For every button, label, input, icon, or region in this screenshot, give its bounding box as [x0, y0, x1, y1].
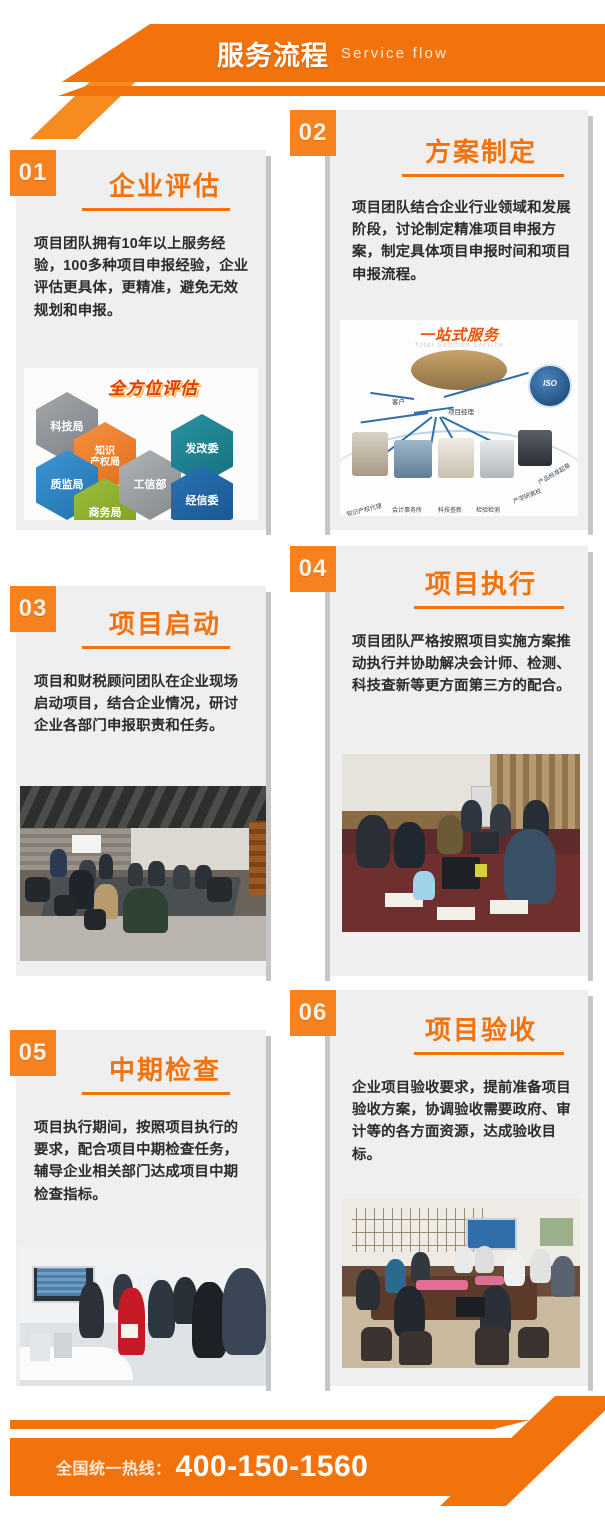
step-body-06: 企业项目验收要求，提前准备项目验收方案，协调验收需要政府、审计等的各方面资源，达…: [352, 1077, 574, 1166]
step-number-badge-04: 04: [290, 546, 336, 592]
step-title-02: 方案制定: [386, 138, 576, 167]
hotline-number[interactable]: 400-150-1560: [176, 1450, 369, 1484]
step-body-05: 项目执行期间，按照项目执行的要求，配合项目中期检查任务，辅导企业相关部门达成项目…: [34, 1117, 250, 1206]
work-session-photo: [342, 754, 580, 932]
hex-node-label: 发改委: [186, 443, 219, 455]
step-card-03: 项目启动 项目和财税顾问团队在企业现场启动项目，结合企业情况，研讨企业各部门申报…: [16, 586, 266, 976]
oss-diagram-subtitle: Total Solution Service: [340, 342, 578, 349]
step-title-05: 中期检查: [74, 1056, 256, 1085]
hex-node-label: 商务局: [89, 507, 122, 519]
hex-node-label: 知识 产权局: [90, 446, 120, 468]
page-title: 服务流程: [217, 34, 329, 73]
oss-node-testing: [480, 440, 514, 478]
step-card-06: 项目验收 企业项目验收要求，提前准备项目验收方案，协调验收需要政府、审计等的各方…: [330, 990, 588, 1386]
oss-seal-label: ISO: [530, 379, 570, 388]
showroom-visit-photo: [20, 1246, 266, 1386]
oss-bottom-label: 会计事务所: [392, 505, 422, 514]
step-body-01: 项目团队拥有10年以上服务经验，100多种项目申报经验，企业评估更具体，更精准，…: [34, 233, 250, 322]
step-number-badge-06: 06: [290, 990, 336, 1036]
hotline-group: 全国统一热线： 400-150-1560: [56, 1438, 368, 1496]
header-title-group: 服务流程 Service flow: [0, 24, 605, 82]
step-title-03: 项目启动: [74, 610, 256, 639]
step-title-06: 项目验收: [386, 1016, 576, 1045]
oss-node-research: [438, 438, 474, 478]
step-body-04: 项目团队严格按照项目实施方案推动执行并协助解决会计师、检测、科技查新等更方面第三…: [352, 631, 574, 698]
hex-node-label: 工信部: [134, 479, 167, 491]
oss-node-accounting: [394, 440, 432, 478]
step-title-rule-04: [414, 606, 564, 609]
page-subtitle: Service flow: [341, 45, 448, 62]
boardroom-meeting-photo: [342, 1198, 580, 1368]
hex-node-label: 质监局: [51, 479, 84, 491]
step-number-badge-01: 01: [10, 150, 56, 196]
oss-node-university: [518, 430, 552, 466]
step-body-02: 项目团队结合企业行业领域和发展阶段，讨论制定精准项目申报方案，制定具体项目申报时…: [352, 197, 574, 286]
oss-iso-seal-icon: ISO: [528, 364, 572, 408]
step-title-rule-06: [414, 1052, 564, 1055]
step-title-rule-02: [402, 174, 564, 177]
oss-arrow: [361, 412, 429, 423]
step-number-badge-03: 03: [10, 586, 56, 632]
hex-node-label: 科技局: [51, 421, 84, 433]
hex-node-label: 经信委: [186, 495, 219, 507]
hotline-label: 全国统一热线：: [56, 1455, 172, 1479]
step-title-04: 项目执行: [386, 570, 576, 599]
step-card-01: 企业评估 项目团队拥有10年以上服务经验，100多种项目申报经验，企业评估更具体…: [16, 150, 266, 530]
step-card-05: 中期检查 项目执行期间，按照项目执行的要求，配合项目中期检查任务，辅导企业相关部…: [16, 1030, 266, 1386]
page-header: 服务流程 Service flow: [0, 0, 605, 110]
step-number-badge-05: 05: [10, 1030, 56, 1076]
header-stripe: [0, 86, 605, 96]
one-stop-service-diagram: 一站式服务 Total Solution Service 客户 项目经理 ISO…: [340, 320, 578, 516]
page-footer: 全国统一热线： 400-150-1560: [0, 1396, 605, 1538]
step-title-rule-03: [82, 646, 230, 649]
footer-stripe: [10, 1420, 605, 1429]
service-flow-infographic: 服务流程 Service flow 企业评估 项目团队拥有10年以上服务经验，1…: [0, 0, 605, 1538]
step-number-badge-02: 02: [290, 110, 336, 156]
step-title-rule-05: [82, 1092, 230, 1095]
oss-node-ip: [352, 432, 388, 476]
oss-bottom-label: 检验检测: [476, 505, 500, 514]
step-title-rule-01: [82, 208, 230, 211]
meeting-room-photo: [20, 786, 266, 961]
oss-bottom-label: 科技查新: [438, 505, 462, 514]
step-title-01: 企业评估: [74, 172, 256, 201]
hexagon-assessment-diagram: 全方位评估 科技局 知识 产权局 质监局 商务局 工信部 发改委 经信委: [24, 368, 258, 520]
step-card-02: 方案制定 项目团队结合企业行业领域和发展阶段，讨论制定精准项目申报方案，制定具体…: [330, 110, 588, 530]
step-card-04: 项目执行 项目团队严格按照项目实施方案推动执行并协助解决会计师、检测、科技查新等…: [330, 546, 588, 976]
step-body-03: 项目和财税顾问团队在企业现场启动项目，结合企业情况，研讨企业各部门申报职责和任务…: [34, 671, 250, 738]
hex-diagram-title: 全方位评估: [108, 374, 198, 399]
